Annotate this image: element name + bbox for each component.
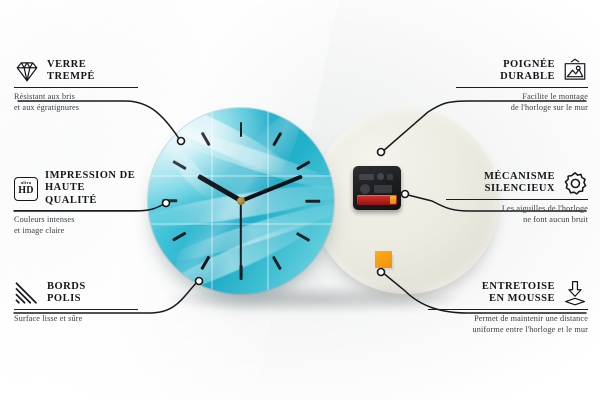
callout-divider [14, 87, 138, 88]
callout-divider [14, 309, 138, 310]
callout-title-line-1: IMPRESSION DE [45, 170, 138, 182]
callout-desc-line-2: ne font aucun bruit [446, 215, 588, 225]
feature-callout-verre-trempe: VERRE TREMPÉ Résistant aux bris et aux é… [14, 58, 138, 113]
callout-header: ENTRETOISE EN MOUSSE [428, 280, 588, 306]
connector-dot-5 [402, 191, 409, 198]
callout-desc-line-1: Les aiguilles de l'horloge [446, 204, 588, 214]
callout-desc-line-1: Facilite le montage [456, 92, 588, 102]
polished-edge-icon [14, 280, 40, 306]
callout-title-block: POIGNÉE DURABLE [500, 59, 555, 84]
callout-header: BORDS POLIS [14, 280, 138, 306]
feature-callout-poignee-durable: POIGNÉE DURABLE Facilite le montage de l… [456, 58, 588, 113]
callout-title-block: BORDS POLIS [47, 281, 86, 306]
ultra-hd-badge-icon: ultra HD [14, 177, 38, 201]
gear-icon [562, 170, 588, 196]
callout-title-line-1: ENTRETOISE [482, 281, 555, 293]
callout-header: VERRE TREMPÉ [14, 58, 138, 84]
badge-main-label: HD [18, 186, 33, 196]
connector-dot-4 [378, 149, 385, 156]
callout-header: POIGNÉE DURABLE [456, 58, 588, 84]
callout-title-line-2: DURABLE [500, 71, 555, 83]
callout-title-line-2: POLIS [47, 293, 86, 305]
callout-desc-line-1: Permet de maintenir une distance [428, 314, 588, 324]
callout-title-line-1: MÉCANISME [484, 171, 555, 183]
callout-divider [428, 309, 588, 310]
callout-desc-line-1: Résistant aux bris [14, 92, 138, 102]
infographic-canvas: VERRE TREMPÉ Résistant aux bris et aux é… [0, 0, 600, 400]
callout-title-line-1: BORDS [47, 281, 86, 293]
callout-divider [456, 87, 588, 88]
callout-title-block: VERRE TREMPÉ [47, 59, 95, 84]
callout-title-line-1: VERRE [47, 59, 95, 71]
feature-callout-impression-hd: ultra HD IMPRESSION DE HAUTE QUALITÉ Cou… [14, 170, 138, 236]
callout-title-block: ENTRETOISE EN MOUSSE [482, 281, 555, 306]
foam-spacer-icon [562, 280, 588, 306]
hanging-frame-icon [562, 58, 588, 84]
callout-title-block: MÉCANISME SILENCIEUX [484, 171, 555, 196]
callout-header: ultra HD IMPRESSION DE HAUTE QUALITÉ [14, 170, 138, 207]
connector-dot-3 [196, 278, 203, 285]
callout-divider [14, 210, 138, 211]
diamond-icon [14, 58, 40, 84]
connector-dot-1 [178, 138, 185, 145]
callout-title-line-2: TREMPÉ [47, 71, 95, 83]
callout-desc-line-2: uniforme entre l'horloge et le mur [428, 325, 588, 335]
callout-divider [446, 199, 588, 200]
callout-title-line-1: POIGNÉE [500, 59, 555, 71]
feature-callout-mecanisme-silencieux: MÉCANISME SILENCIEUX Les aiguilles de l'… [446, 170, 588, 225]
callout-desc-line-2: et aux égratignures [14, 103, 138, 113]
connector-dot-2 [163, 200, 170, 207]
callout-desc-line-2: de l'horloge sur le mur [456, 103, 588, 113]
callout-desc-line-1: Surface lisse et sûre [14, 314, 138, 324]
callout-title-block: IMPRESSION DE HAUTE QUALITÉ [45, 170, 138, 207]
callout-desc-line-1: Couleurs intenses [14, 215, 138, 225]
callout-title-line-2: EN MOUSSE [482, 293, 555, 305]
callout-desc-line-2: et image claire [14, 226, 138, 236]
connector-dot-6 [378, 269, 385, 276]
feature-callout-entretoise-mousse: ENTRETOISE EN MOUSSE Permet de maintenir… [428, 280, 588, 335]
feature-callout-bords-polis: BORDS POLIS Surface lisse et sûre [14, 280, 138, 325]
callout-title-line-2: SILENCIEUX [484, 183, 555, 195]
callout-header: MÉCANISME SILENCIEUX [446, 170, 588, 196]
callout-title-line-2: HAUTE QUALITÉ [45, 182, 138, 207]
